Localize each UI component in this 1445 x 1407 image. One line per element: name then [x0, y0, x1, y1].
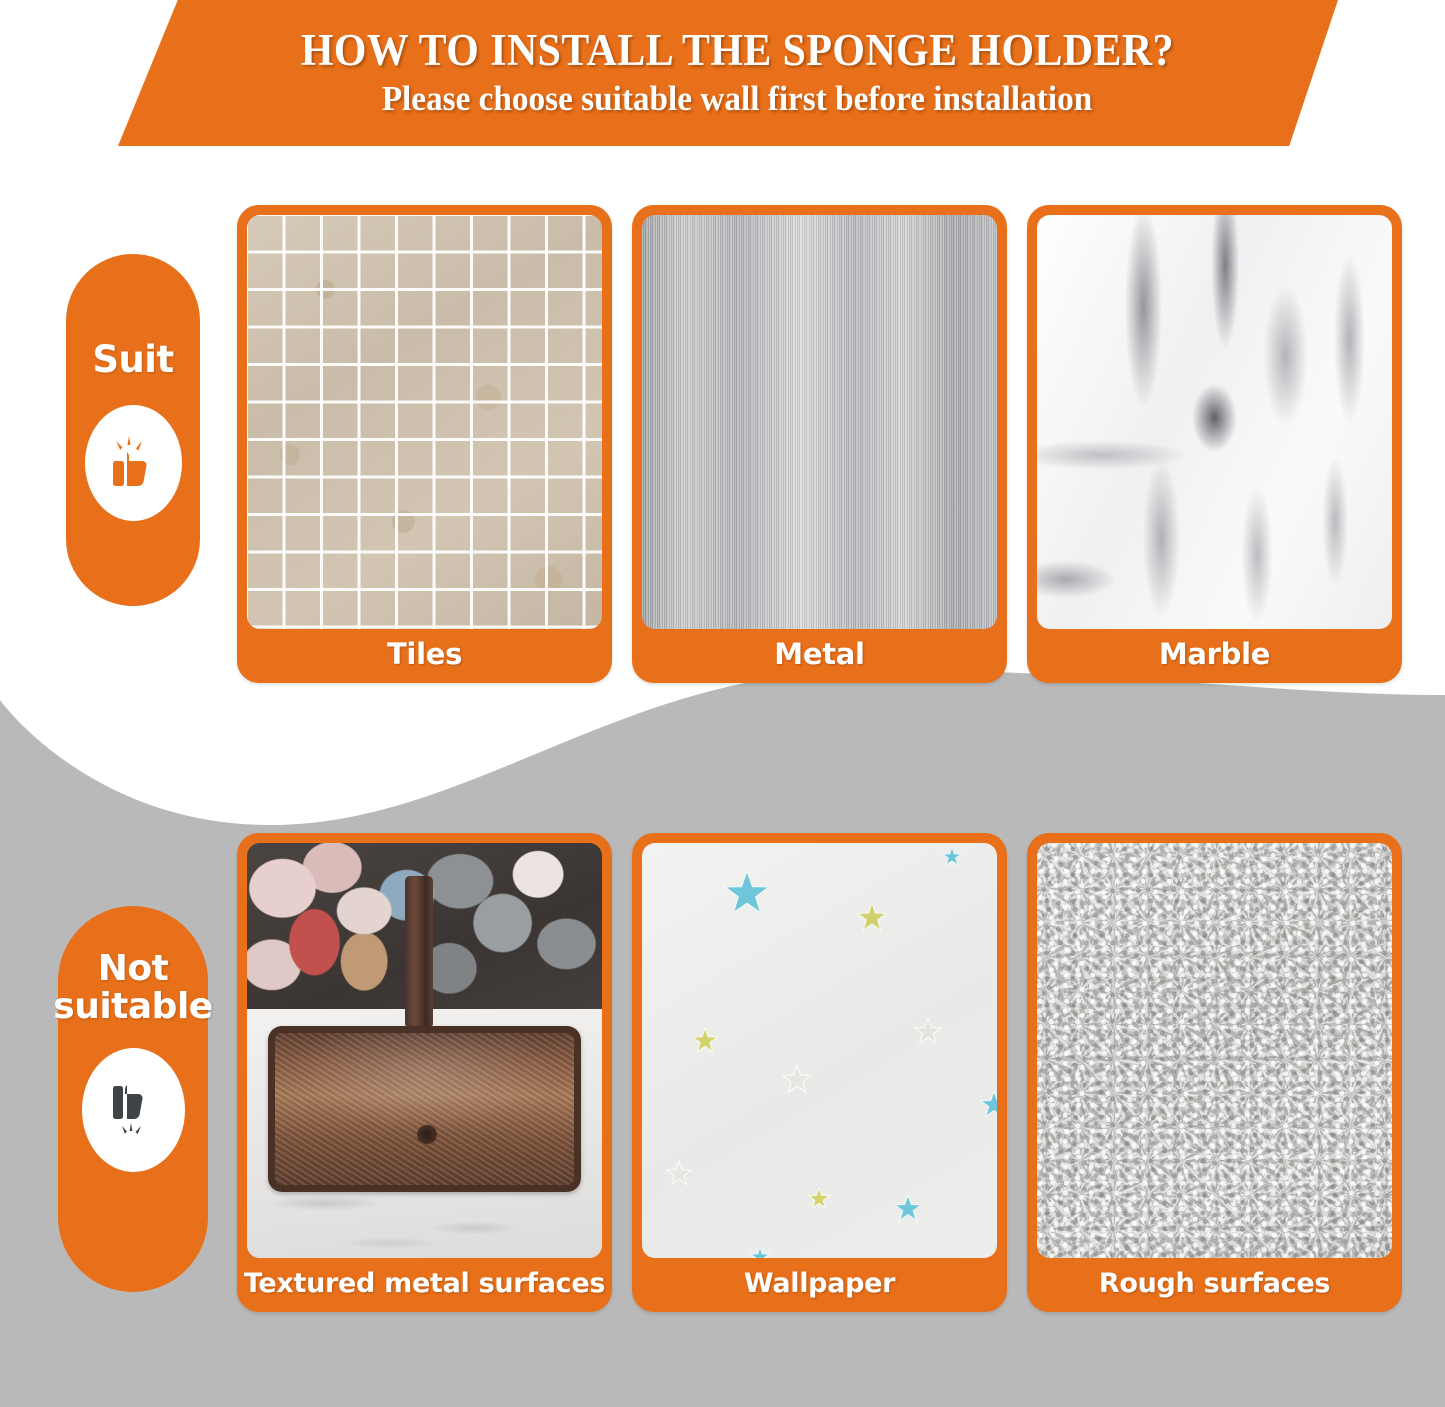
card-rough[interactable]: Rough surfaces	[1027, 833, 1402, 1312]
header-banner: HOW TO INSTALL THE SPONGE HOLDER? Please…	[118, 0, 1338, 146]
sink-drain	[417, 1125, 437, 1144]
page-title: HOW TO INSTALL THE SPONGE HOLDER?	[300, 27, 1173, 74]
badge-suitable: Suit	[66, 254, 200, 606]
card-rough-photo	[1037, 843, 1392, 1258]
thumbs-up-icon	[105, 434, 161, 492]
badge-suitable-icon-circle	[85, 405, 182, 521]
card-rough-caption: Rough surfaces	[1027, 1254, 1402, 1312]
card-wallpaper-caption: Wallpaper	[632, 1254, 1007, 1312]
card-marble[interactable]: Marble	[1027, 205, 1402, 683]
card-tiles-caption: Tiles	[237, 625, 612, 683]
card-metal-photo	[642, 215, 997, 629]
card-metal-caption: Metal	[632, 625, 1007, 683]
card-tiles-photo	[247, 215, 602, 629]
infographic-page: HOW TO INSTALL THE SPONGE HOLDER? Please…	[0, 0, 1445, 1407]
card-textured-metal[interactable]: Textured metal surfaces	[237, 833, 612, 1312]
card-wallpaper-photo	[642, 843, 997, 1258]
hammered-copper-basin	[268, 1026, 580, 1192]
card-textured-metal-caption: Textured metal surfaces	[237, 1254, 612, 1312]
faucet	[405, 876, 433, 1025]
page-subtitle: Please choose suitable wall first before…	[382, 80, 1093, 119]
thumbs-down-icon	[104, 1080, 162, 1140]
badge-suitable-label: Suit	[92, 340, 173, 379]
badge-not-suitable-label-line2: suitable	[53, 986, 212, 1027]
card-metal[interactable]: Metal	[632, 205, 1007, 683]
badge-not-suitable-label: Not suitable	[53, 950, 212, 1026]
card-marble-photo	[1037, 215, 1392, 629]
badge-not-suitable-icon-circle	[82, 1048, 185, 1172]
badge-not-suitable: Not suitable	[58, 906, 208, 1292]
card-textured-metal-photo	[247, 843, 602, 1258]
card-marble-caption: Marble	[1027, 625, 1402, 683]
card-wallpaper[interactable]: Wallpaper	[632, 833, 1007, 1312]
badge-not-suitable-label-line1: Not	[98, 948, 169, 989]
card-tiles[interactable]: Tiles	[237, 205, 612, 683]
